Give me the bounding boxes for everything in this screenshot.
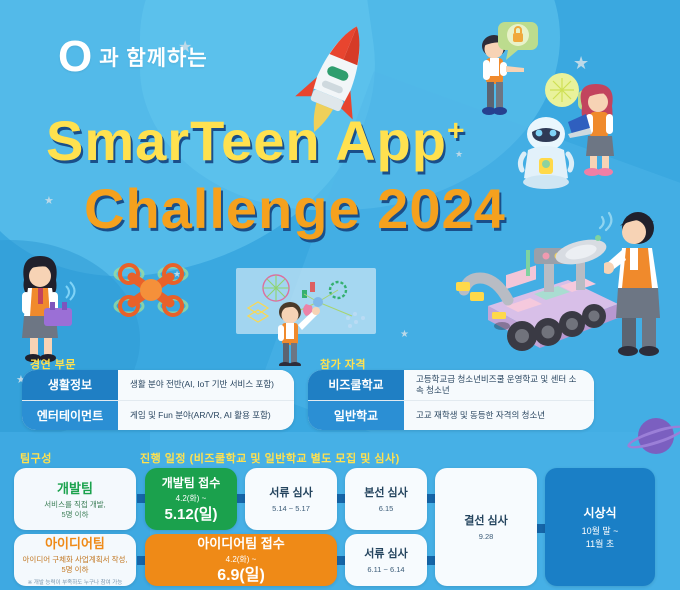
schedule-title-idea-doc-review: 서류 심사 — [364, 545, 408, 561]
kicker-zero: O — [58, 38, 93, 76]
team-title-development: 개발팀 — [57, 478, 93, 497]
team-desc-idea-line1: 아이디어 구체화 사업계획서 작성, — [23, 555, 128, 565]
eligibility-value-2: 고교 재학생 및 동등한 자격의 청소년 — [404, 401, 594, 431]
schedule-date-final-review: 9.28 — [479, 532, 494, 542]
schedule-date-award-line1: 10월 말 ~ — [582, 525, 619, 538]
kicker-text: 과 함께하는 — [99, 42, 207, 72]
team-desc-development-line1: 서비스를 직접 개발, — [44, 500, 105, 510]
drone-icon — [112, 258, 190, 327]
section-label-team: 팀구성 — [20, 450, 52, 466]
schedule-title-award: 시상식 — [583, 504, 616, 521]
poster-title-line2: Challenge 2024 — [84, 176, 506, 241]
schedule-date-idea-apply: 4.2(화) ~ 6.9(일) — [217, 555, 265, 587]
schedule-date-idea-apply-from: 4.2(화) ~ — [226, 555, 257, 564]
team-box-idea: 아이디어팀 아이디어 구체화 사업계획서 작성, 5명 이하 ※ 개발 능력이 … — [14, 534, 136, 586]
eligibility-key-1: 비즈쿨학교 — [308, 370, 404, 400]
schedule-date-dev-apply: 4.2(화) ~ 5.12(일) — [165, 494, 218, 525]
lock-chat-bubble-icon — [496, 20, 550, 67]
section-label-schedule: 진행 일정 (비즈쿨학교 및 일반학교 별도 모집 및 심사) — [140, 450, 400, 466]
team-desc-idea-line2: 5명 이하 — [62, 565, 89, 575]
title-text-main: SmarTeen App — [46, 109, 447, 172]
schedule-box-award: 시상식 10월 말 ~ 11월 초 — [545, 468, 655, 586]
schedule-date-dev-apply-to: 5.12(일) — [165, 505, 218, 525]
schedule-box-idea-apply: 아이디어팀 접수 4.2(화) ~ 6.9(일) — [145, 534, 337, 586]
team-note-idea: ※ 개발 능력이 부족하도 누구나 참여 가능 — [28, 580, 123, 587]
schedule-date-dev-apply-from: 4.2(화) ~ — [176, 494, 207, 503]
schedule-title-main-review: 본선 심사 — [364, 484, 408, 500]
table-row: 생활정보 생활 분야 전반(AI, IoT 기반 서비스 포함) — [22, 370, 294, 401]
schedule-date-idea-doc-review: 6.11 ~ 6.14 — [367, 565, 404, 575]
team-box-development: 개발팀 서비스를 직접 개발, 5명 이하 — [14, 468, 136, 530]
schedule-box-idea-doc-review: 서류 심사 6.11 ~ 6.14 — [345, 534, 427, 586]
schedule-title-dev-apply: 개발팀 접수 — [162, 474, 221, 491]
poster-canvas: O 과 함께하는 SmarTeen App+ Challenge 2024 — [0, 0, 680, 590]
schedule-box-final-review: 결선 심사 9.28 — [435, 468, 537, 586]
team-title-idea: 아이디어팀 — [45, 533, 105, 552]
title-plus: + — [447, 114, 466, 147]
category-key-2: 엔터테이먼트 — [22, 401, 118, 431]
category-value-2: 게임 및 Fun 분야(AR/VR, AI 활용 포함) — [118, 401, 294, 431]
table-row: 비즈쿨학교 고등학교급 청소년비즈쿨 운영학교 및 센터 소속 청소년 — [308, 370, 594, 401]
schedule-date-idea-apply-to: 6.9(일) — [217, 566, 265, 587]
schedule-box-main-review: 본선 심사 6.15 — [345, 468, 427, 530]
table-row: 엔터테이먼트 게임 및 Fun 분야(AR/VR, AI 활용 포함) — [22, 401, 294, 431]
schedule-date-main-review: 6.15 — [379, 504, 394, 514]
schedule-title-final-review: 결선 심사 — [464, 512, 508, 528]
category-key-1: 생활정보 — [22, 370, 118, 400]
category-table: 생활정보 생활 분야 전반(AI, IoT 기반 서비스 포함) 엔터테이먼트 … — [22, 370, 294, 430]
schedule-date-award: 10월 말 ~ 11월 초 — [582, 525, 619, 550]
eligibility-key-2: 일반학교 — [308, 401, 404, 431]
schedule-date-dev-doc-review: 5.14 ~ 5.17 — [272, 504, 310, 514]
schedule-box-dev-doc-review: 서류 심사 5.14 ~ 5.17 — [245, 468, 337, 530]
man-beside-rover-illustration — [604, 206, 680, 361]
schedule-date-award-line2: 11월 초 — [582, 538, 619, 551]
eligibility-value-1: 고등학교급 청소년비즈쿨 운영학교 및 센터 소속 청소년 — [404, 370, 594, 400]
table-row: 일반학교 고교 재학생 및 동등한 자격의 청소년 — [308, 401, 594, 431]
team-desc-development-line2: 5명 이하 — [62, 510, 89, 520]
robot-illustration — [514, 110, 578, 199]
poster-kicker: O 과 함께하는 — [58, 38, 208, 76]
woman-with-drone-controller-illustration — [6, 252, 86, 367]
eligibility-table: 비즈쿨학교 고등학교급 청소년비즈쿨 운영학교 및 센터 소속 청소년 일반학교… — [308, 370, 594, 430]
schedule-title-dev-doc-review: 서류 심사 — [269, 484, 313, 500]
schedule-title-idea-apply: 아이디어팀 접수 — [197, 533, 284, 552]
category-value-1: 생활 분야 전반(AI, IoT 기반 서비스 포함) — [118, 370, 294, 400]
schedule-box-dev-apply: 개발팀 접수 4.2(화) ~ 5.12(일) — [145, 468, 237, 530]
poster-title-line1: SmarTeen App+ — [46, 108, 466, 173]
